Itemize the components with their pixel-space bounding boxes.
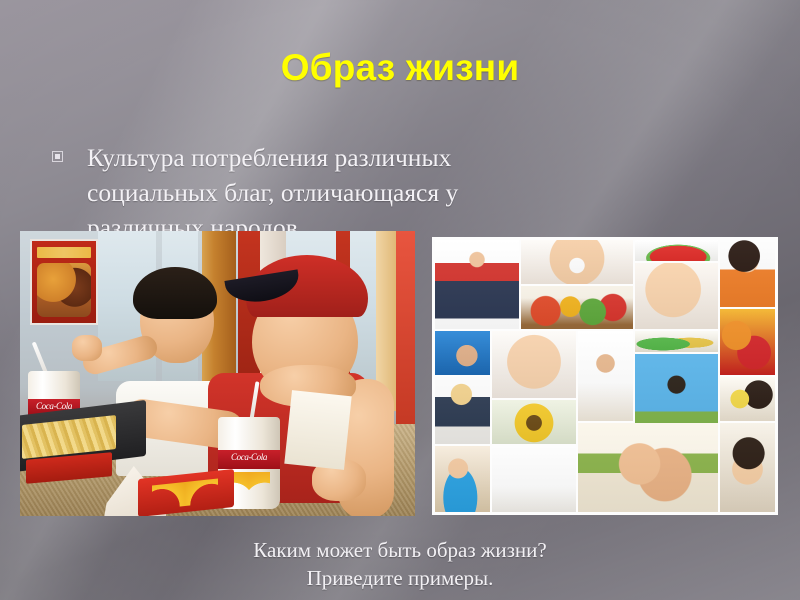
presentation-slide: Образ жизни Культура потребления различн…: [0, 0, 800, 600]
collage-smiling-woman: [521, 240, 633, 284]
bullet-item-text: Культура потребления различных социальны…: [87, 140, 522, 245]
collage-weight-loss: [435, 240, 519, 329]
interior-red-panel: [396, 231, 415, 441]
collage-sunflower: [492, 400, 576, 444]
collage-dumbbell-workout: [435, 377, 490, 444]
menu-poster: [30, 239, 98, 325]
mcdonalds-arches-icon: [228, 472, 270, 503]
burger-photo: [37, 263, 91, 317]
collage-salad-bowl: [635, 331, 719, 352]
image-fast-food: Coca-Cola Coca-Cola: [20, 231, 415, 516]
image-healthy-lifestyle: [432, 237, 778, 515]
collage-fitness-ball: [435, 446, 490, 513]
child-left-hand: [72, 335, 102, 361]
paper-receipt: [284, 390, 351, 470]
collage-yoga-meditation: [578, 331, 633, 420]
question-line-2: Приведите примеры.: [0, 564, 800, 592]
collage-watermelon: [635, 240, 719, 261]
bullet-list: Культура потребления различных социальны…: [52, 140, 522, 245]
slide-title: Образ жизни: [0, 46, 800, 90]
collage-bedroom-stretch: [492, 446, 576, 513]
collage-face-smile: [492, 331, 576, 398]
closing-question: Каким может быть образ жизни? Приведите …: [0, 536, 800, 592]
collage-sleeping-man: [720, 423, 775, 512]
collage-drinking-water: [435, 331, 490, 375]
collage-smile-closeup: [635, 263, 719, 330]
poster-price-label: [37, 247, 91, 258]
square-bullet-icon: [52, 151, 63, 162]
collage-grid: [432, 237, 778, 515]
collage-couple-relaxing: [578, 423, 719, 512]
collage-woman-orange-top: [720, 240, 775, 307]
collage-fruits-vegetables: [521, 286, 633, 330]
coca-cola-logo: Coca-Cola: [218, 450, 280, 468]
collage-woman-fruit: [720, 377, 775, 421]
question-line-1: Каким может быть образ жизни?: [0, 536, 800, 564]
collage-strawberries: [720, 309, 775, 376]
